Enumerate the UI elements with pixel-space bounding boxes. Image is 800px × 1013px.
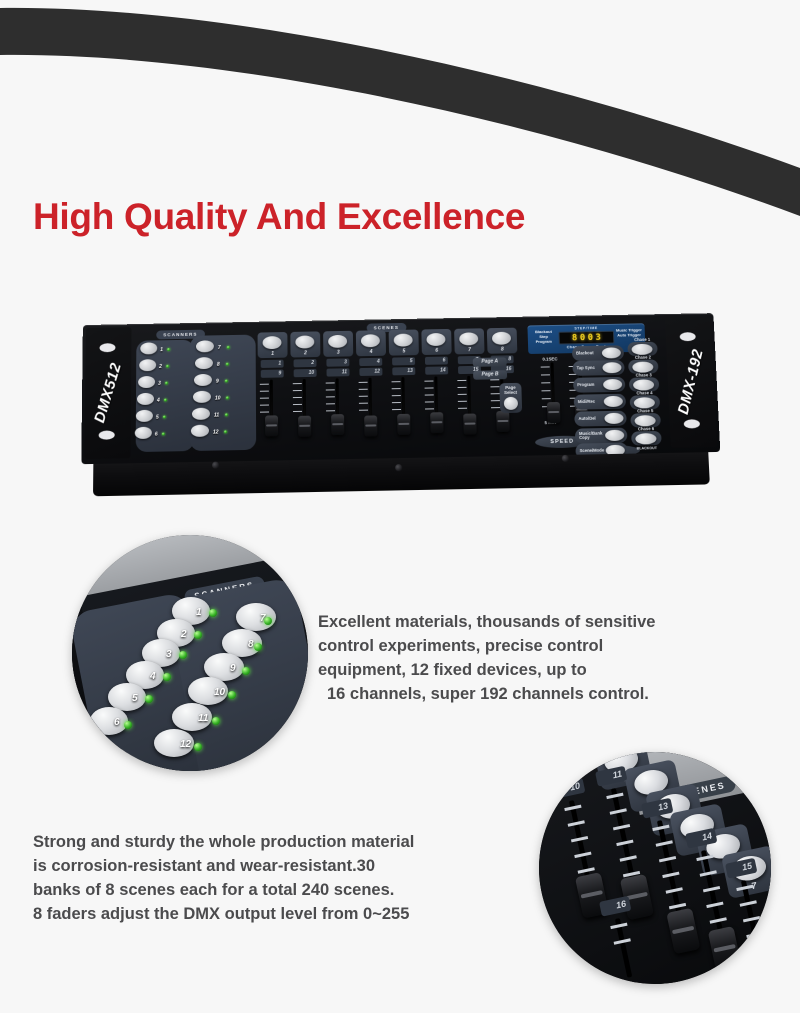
feature-2-line-2: is corrosion-resistant and wear-resistan… — [33, 854, 543, 878]
scanners-section: SCANNERS 1 2 3 4 — [134, 329, 257, 454]
scene-knob — [426, 333, 445, 346]
scanner-label-7: 7 — [218, 345, 221, 351]
tap-sync-knob — [602, 362, 621, 373]
display-left-labels: Blackout Step Program — [531, 329, 557, 345]
fader-tag-6: 6 — [425, 357, 448, 365]
scene-button-7[interactable]: 7 — [454, 328, 484, 354]
page-a-button[interactable]: Page A — [473, 357, 507, 367]
hero-product-image: DMX512 DMX-192 SCANNERS — [82, 318, 718, 496]
fader-tag-2: 2 — [294, 359, 317, 367]
callout-led-10 — [228, 691, 236, 699]
chase-6-button[interactable] — [631, 431, 662, 446]
program-knob — [603, 379, 622, 390]
blackout-button[interactable]: Blackout — [572, 345, 624, 361]
chase-knob — [635, 433, 657, 444]
scanner-label-6: 6 — [155, 432, 158, 438]
callout-scanner-button-6[interactable] — [90, 707, 128, 735]
scene-button-1[interactable]: 1 — [258, 332, 288, 358]
callout-led-7 — [264, 617, 272, 625]
feature-2-line-1: Strong and sturdy the whole production m… — [33, 830, 543, 854]
product-feature-page: High Quality And Excellence DMX512 — [0, 0, 800, 1013]
scene-label-7: 7 — [455, 346, 485, 352]
scene-knob — [328, 335, 347, 348]
page-b-button[interactable]: Page B — [473, 370, 507, 380]
feature-text-block-1: Excellent materials, thousands of sensit… — [318, 610, 778, 706]
fader-tag-13: 13 — [392, 367, 415, 375]
feature-2-line-4: 8 faders adjust the DMX output level fro… — [33, 902, 543, 926]
scanner-label-11: 11 — [214, 412, 219, 418]
music-bank-copy-knob — [605, 430, 624, 441]
mounting-hole — [680, 332, 696, 341]
detail-callout-scanners: DMX512 SCANNERS 1 2 3 4 5 6 7 — [72, 535, 308, 771]
mounting-hole — [99, 343, 115, 352]
scanner-label-2: 2 — [159, 364, 162, 370]
chassis-screw — [212, 462, 219, 469]
page-title: High Quality And Excellence — [33, 196, 525, 238]
auto-del-knob — [604, 413, 623, 424]
blackout-knob — [602, 347, 621, 358]
callout-num-2: 2 — [181, 629, 187, 640]
scene-label-6: 6 — [422, 347, 452, 353]
scale-label-top-left: 0.1SEC — [542, 356, 557, 361]
fader-knob-2[interactable] — [298, 416, 311, 437]
scanner-label-5: 5 — [156, 415, 159, 421]
callout-led-11 — [212, 717, 220, 725]
page-select-knob — [504, 397, 518, 410]
feature-1-line-3: equipment, 12 fixed devices, up to — [318, 658, 778, 682]
fader-column-1: 1 9 — [258, 360, 290, 452]
scene-knob — [492, 332, 511, 345]
feature-1-line-4: 16 channels, super 192 channels control. — [318, 682, 778, 706]
chassis-screw — [395, 464, 402, 471]
speed-knob[interactable] — [547, 402, 561, 423]
scene-button-2[interactable]: 2 — [290, 331, 320, 357]
fader-tag-1: 1 — [261, 360, 284, 368]
function-buttons-section: Blackout Tap Sync Program Midi/Rec — [571, 327, 668, 448]
detail-callout-scenes-faders: SCENES 2 3 4 5 6 7 10 — [539, 752, 771, 984]
auto-del-button[interactable]: Auto/Del — [574, 411, 627, 427]
callout-led-8 — [254, 643, 262, 651]
callout-num-9: 9 — [230, 663, 236, 674]
callout-num-5: 5 — [132, 693, 138, 704]
fader-tag-12: 12 — [359, 368, 382, 376]
feature-text-block-2: Strong and sturdy the whole production m… — [33, 830, 543, 926]
scene-mode-label: Scene/Mode — [580, 448, 607, 453]
chase-knob — [631, 343, 652, 354]
fader-knob-3[interactable] — [331, 414, 344, 435]
scene-knob — [459, 332, 478, 345]
scene-label-8: 8 — [487, 346, 517, 352]
music-bank-copy-label: Music/Bank Copy — [579, 431, 606, 441]
tap-sync-button[interactable]: Tap Sync — [572, 360, 624, 376]
auto-del-label: Auto/Del — [578, 416, 605, 421]
scene-button-8[interactable]: 8 — [487, 328, 518, 354]
fader-tag-10: 10 — [294, 369, 317, 377]
callout-led-4 — [163, 673, 171, 681]
midi-rec-knob — [604, 396, 623, 407]
fader-column-5: 5 13 — [389, 357, 422, 449]
fader-knob-8[interactable] — [496, 411, 510, 432]
faders-section: 1 9 2 10 — [258, 355, 528, 452]
chase-knob — [632, 361, 653, 372]
callout-num-6: 6 — [114, 717, 120, 728]
program-label: Program — [577, 382, 604, 387]
fader-tag-14: 14 — [425, 366, 448, 374]
callout-led-12 — [194, 743, 202, 751]
fader-tag-4: 4 — [359, 358, 382, 366]
scene-knob — [263, 336, 282, 349]
callout-num-3: 3 — [166, 649, 172, 660]
scanner-label-1: 1 — [160, 347, 163, 353]
fader-column-6: 6 14 — [422, 356, 455, 448]
rack-ear-left: DMX512 — [84, 327, 131, 459]
fader-tag-11: 11 — [327, 368, 350, 376]
callout-led-1 — [209, 609, 217, 617]
brand-label-dmx512: DMX512 — [91, 361, 125, 425]
fader-column-7: 7 15 — [455, 356, 488, 448]
scene-button-4[interactable]: 4 — [356, 330, 386, 356]
scene-label-4: 4 — [356, 348, 386, 354]
scene-knob — [295, 335, 314, 348]
feature-1-line-2: control experiments, precise control — [318, 634, 778, 658]
callout-led-3 — [179, 651, 187, 659]
scanner-label-10: 10 — [215, 396, 221, 402]
mounting-hole — [99, 430, 115, 439]
page-select-button[interactable]: Page Select — [499, 383, 522, 413]
scene-button-5[interactable]: 5 — [389, 330, 419, 356]
brand-label-dmx192: DMX-192 — [675, 347, 707, 416]
scene-label-5: 5 — [389, 348, 419, 354]
callout-led-6 — [124, 721, 132, 729]
midi-rec-button[interactable]: Midi/Rec — [574, 394, 627, 410]
program-button[interactable]: Program — [573, 377, 625, 393]
scene-button-6[interactable]: 6 — [421, 329, 451, 355]
rack-ear-right: DMX-192 — [665, 316, 717, 448]
callout-num-10: 10 — [214, 687, 225, 698]
feature-1-line-1: Excellent materials, thousands of sensit… — [318, 610, 778, 634]
fader-knob-1[interactable] — [265, 415, 278, 436]
fader-tag-9: 9 — [261, 370, 284, 378]
scene-knob — [361, 334, 380, 347]
device-faceplate: DMX512 DMX-192 SCANNERS — [81, 313, 720, 464]
callout-num-11: 11 — [198, 713, 208, 724]
scenes-section: SCENES 1 2 3 4 — [258, 324, 525, 359]
fader-knob-4[interactable] — [364, 415, 377, 436]
scanner-label-12: 12 — [213, 429, 219, 435]
feature-2-line-3: banks of 8 scenes each for a total 240 s… — [33, 878, 543, 902]
blackout-chase-label: BLACKOUT — [632, 446, 662, 451]
midi-rec-label: Midi/Rec — [578, 399, 605, 404]
fader-column-2: 2 10 — [291, 359, 323, 451]
scanner-label-3: 3 — [158, 381, 161, 387]
chase-knob — [634, 415, 655, 426]
callout-num-4: 4 — [150, 671, 156, 682]
fader-tag-3: 3 — [326, 358, 349, 366]
scanner-label-9: 9 — [216, 379, 219, 385]
scene-knob — [394, 334, 413, 347]
callout-led-9 — [242, 667, 250, 675]
scene-label-3: 3 — [323, 349, 353, 355]
blackout-label: Blackout — [576, 351, 603, 356]
callout-num-12: 12 — [180, 739, 191, 750]
music-bank-copy-button[interactable]: Music/Bank Copy — [575, 428, 628, 444]
mounting-hole — [684, 419, 700, 428]
scene-label-1: 1 — [258, 350, 288, 356]
fader-tag-5: 5 — [392, 357, 415, 365]
callout-led-5 — [145, 695, 153, 703]
scene-button-3[interactable]: 3 — [323, 331, 353, 357]
scene-label-2: 2 — [290, 350, 320, 356]
callout-num-8: 8 — [248, 639, 254, 650]
fader-knob-6[interactable] — [430, 412, 443, 433]
chase-knob — [633, 379, 654, 390]
control-panel: SCANNERS 1 2 3 4 — [134, 319, 668, 458]
tap-sync-label: Tap Sync — [577, 366, 604, 371]
fader-column-4: 4 12 — [356, 358, 389, 450]
callout-num-1: 1 — [196, 607, 202, 618]
fader-knob-5[interactable] — [397, 414, 410, 435]
fader-knob-7[interactable] — [463, 414, 477, 435]
callout-led-2 — [194, 631, 202, 639]
page-select-label: Page Select — [499, 385, 521, 395]
chase-knob — [634, 397, 655, 408]
fader-column-3: 3 11 — [323, 358, 355, 450]
scanner-label-8: 8 — [217, 362, 220, 368]
scanner-label-4: 4 — [157, 398, 160, 404]
chassis-screw — [562, 455, 569, 462]
swoosh-shape — [0, 8, 800, 216]
